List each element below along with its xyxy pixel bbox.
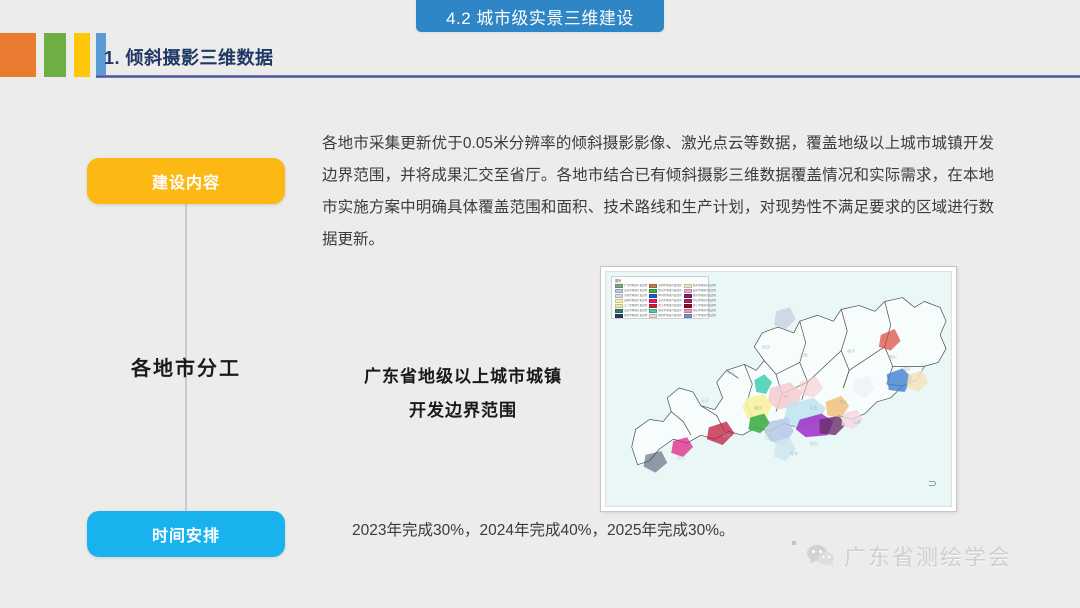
legend-item: 韶关市城镇开发边界 [684, 289, 716, 293]
legend-swatch [615, 314, 623, 318]
legend-item: 揭阳市城镇开发边界 [649, 314, 681, 318]
legend-label: 佛山市城镇开发边界 [658, 289, 681, 292]
legend-swatch [684, 284, 692, 288]
svg-text:汕头: 汕头 [920, 362, 928, 367]
legend-item: 深圳市城镇开发边界 [649, 284, 681, 288]
bar-gap-2 [66, 33, 74, 77]
legend-item: 清远市城镇开发边界 [684, 309, 716, 313]
pill-time-schedule[interactable]: 时间安排 [87, 511, 285, 557]
legend-item: 惠州市城镇开发边界 [684, 294, 716, 298]
svg-text:汕尾: 汕尾 [853, 419, 861, 424]
legend-swatch [615, 299, 623, 303]
svg-text:江门: 江门 [764, 435, 772, 440]
body-paragraph: 各地市采集更新优于0.05米分辨率的倾斜摄影影像、激光点云等数据，覆盖地级以上城… [322, 128, 994, 256]
legend-swatch [649, 289, 657, 293]
legend-grid: 广州市城镇开发边界深圳市城镇开发边界珠海市城镇开发边界汕头市城镇开发边界佛山市城… [615, 284, 706, 318]
pill-build-content[interactable]: 建设内容 [87, 158, 285, 204]
legend-swatch [649, 294, 657, 298]
legend-swatch [649, 284, 657, 288]
yellow-bar [74, 33, 90, 77]
legend-label: 广州市城镇开发边界 [624, 284, 647, 287]
legend-label: 揭阳市城镇开发边界 [658, 314, 681, 317]
map-inset-symbol: ⊃ [928, 477, 937, 490]
legend-label: 中山市城镇开发边界 [693, 299, 716, 302]
legend-item: 阳江市城镇开发边界 [649, 304, 681, 308]
legend-label: 珠海市城镇开发边界 [693, 284, 716, 287]
legend-swatch [649, 299, 657, 303]
map-caption: 广东省地级以上城市城镇 开发边界范围 [340, 360, 586, 428]
wechat-icon [806, 543, 836, 569]
svg-text:云浮: 云浮 [701, 398, 709, 403]
legend-label: 汕头市城镇开发边界 [624, 289, 647, 292]
legend-item: 云浮市城镇开发边界 [684, 314, 716, 318]
legend-item: 珠海市城镇开发边界 [684, 284, 716, 288]
legend-item: 中山市城镇开发边界 [684, 299, 716, 303]
title-divider [96, 75, 1080, 78]
legend-swatch [615, 309, 623, 313]
left-heading-division: 各地市分工 [87, 352, 285, 381]
svg-text:惠州: 惠州 [839, 400, 847, 405]
bar-gap-1 [36, 33, 44, 77]
legend-item: 湛江市城镇开发边界 [684, 304, 716, 308]
legend-swatch [684, 299, 692, 303]
legend-title: 图例 [615, 279, 706, 283]
legend-swatch [684, 309, 692, 313]
legend-label: 江门市城镇开发边界 [624, 304, 647, 307]
legend-label: 河源市城镇开发边界 [624, 294, 647, 297]
map-legend: 图例 广州市城镇开发边界深圳市城镇开发边界珠海市城镇开发边界汕头市城镇开发边界佛… [611, 276, 709, 319]
legend-item: 广州市城镇开发边界 [615, 284, 647, 288]
watermark-text: 广东省测绘学会 [844, 540, 1012, 572]
map-caption-line1: 广东省地级以上城市城镇 [340, 360, 586, 394]
watermark: 广东省测绘学会 [806, 540, 1012, 572]
svg-text:茂名: 茂名 [723, 433, 731, 438]
legend-label: 潮州市城镇开发边界 [624, 314, 647, 317]
decorative-color-bars [0, 33, 106, 77]
map-figure: 云浮清远韶关 河源梅州潮州 肇庆广州东莞 惠州揭阳汕头 茂名湛江江门 珠海深圳汕… [600, 266, 957, 512]
legend-label: 湛江市城镇开发边界 [693, 304, 716, 307]
svg-text:珠海: 珠海 [790, 451, 798, 456]
svg-text:清远: 清远 [727, 370, 735, 375]
legend-item: 茂名市城镇开发边界 [615, 309, 647, 313]
legend-swatch [649, 304, 657, 308]
svg-text:韶关: 韶关 [762, 345, 770, 350]
legend-item: 江门市城镇开发边界 [615, 304, 647, 308]
legend-swatch [615, 294, 623, 298]
legend-swatch [649, 309, 657, 313]
orange-bar [0, 33, 36, 77]
pill-build-label: 建设内容 [152, 169, 220, 193]
svg-text:揭阳: 揭阳 [903, 366, 911, 371]
legend-item: 河源市城镇开发边界 [615, 294, 647, 298]
legend-label: 深圳市城镇开发边界 [658, 284, 681, 287]
legend-item: 佛山市城镇开发边界 [649, 289, 681, 293]
schedule-text: 2023年完成30%，2024年完成40%，2025年完成30%。 [352, 518, 735, 540]
legend-label: 惠州市城镇开发边界 [693, 294, 716, 297]
legend-swatch [615, 304, 623, 308]
header-banner: 4.2 城市级实景三维建设 [416, 0, 664, 32]
green-bar [44, 33, 66, 77]
slide-root: 4.2 城市级实景三维建设 1. 倾斜摄影三维数据 建设内容 各地市分工 时间安… [0, 0, 1080, 608]
legend-label: 茂名市城镇开发边界 [624, 309, 647, 312]
legend-label: 东莞市城镇开发边界 [658, 299, 681, 302]
map-canvas: 云浮清远韶关 河源梅州潮州 肇庆广州东莞 惠州揭阳汕头 茂名湛江江门 珠海深圳汕… [605, 271, 952, 507]
legend-swatch [615, 284, 623, 288]
legend-swatch [649, 314, 657, 318]
watermark-dot [792, 541, 796, 545]
svg-text:广州: 广州 [780, 394, 788, 399]
section-title: 1. 倾斜摄影三维数据 [104, 44, 274, 70]
svg-text:梅州: 梅州 [847, 349, 855, 354]
svg-text:河源: 河源 [800, 353, 808, 358]
legend-swatch [684, 304, 692, 308]
pill-time-label: 时间安排 [152, 522, 220, 546]
legend-item: 东莞市城镇开发边界 [649, 299, 681, 303]
legend-label: 梅州市城镇开发边界 [658, 294, 681, 297]
legend-swatch [684, 294, 692, 298]
legend-item: 梅州市城镇开发边界 [649, 294, 681, 298]
legend-label: 阳江市城镇开发边界 [658, 304, 681, 307]
svg-text:潮州: 潮州 [889, 355, 897, 360]
legend-label: 清远市城镇开发边界 [693, 309, 716, 312]
legend-item: 汕尾市城镇开发边界 [615, 299, 647, 303]
legend-swatch [684, 289, 692, 293]
legend-item: 潮州市城镇开发边界 [615, 314, 647, 318]
banner-title: 4.2 城市级实景三维建设 [446, 4, 634, 29]
legend-swatch [615, 289, 623, 293]
legend-label: 云浮市城镇开发边界 [693, 314, 716, 317]
svg-text:东莞: 东莞 [810, 406, 818, 411]
svg-text:湛江: 湛江 [677, 455, 685, 460]
svg-text:深圳: 深圳 [810, 441, 818, 446]
legend-label: 肇庆市城镇开发边界 [658, 309, 681, 312]
map-caption-line2: 开发边界范围 [340, 394, 586, 428]
legend-label: 韶关市城镇开发边界 [693, 289, 716, 292]
svg-text:肇庆: 肇庆 [754, 406, 762, 411]
legend-label: 汕尾市城镇开发边界 [624, 299, 647, 302]
legend-item: 肇庆市城镇开发边界 [649, 309, 681, 313]
legend-swatch [684, 314, 692, 318]
legend-item: 汕头市城镇开发边界 [615, 289, 647, 293]
